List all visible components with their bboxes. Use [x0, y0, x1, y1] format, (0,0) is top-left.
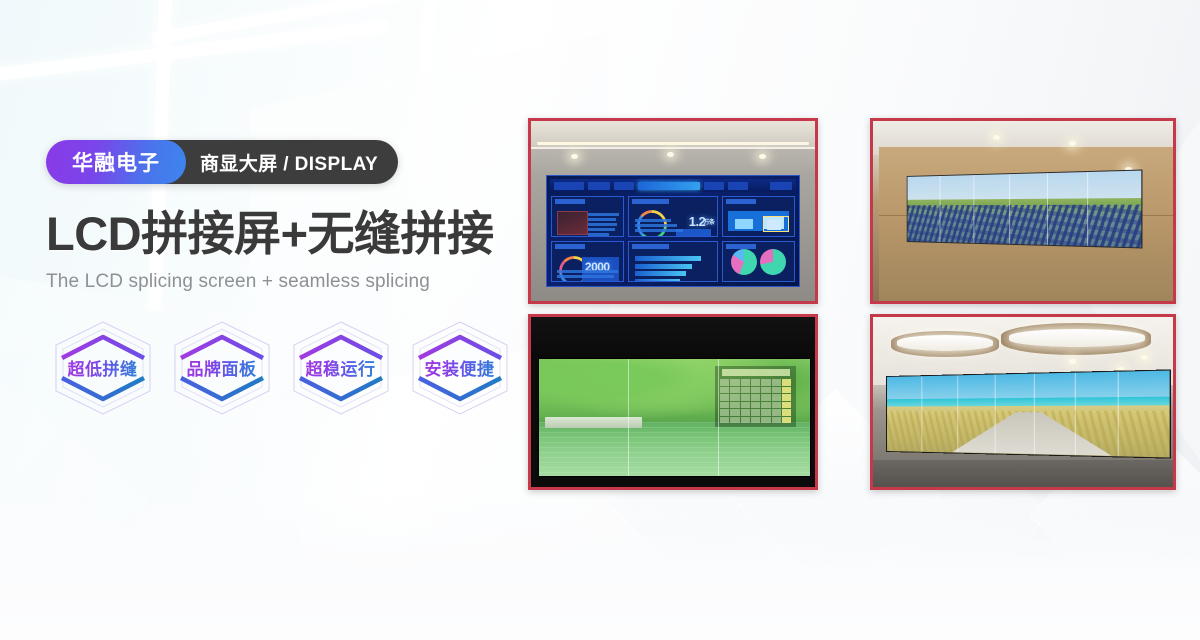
gallery-photo-willow-lake-video-wall[interactable]	[528, 314, 818, 490]
category-label: 商显大屏 / DISPLAY	[200, 149, 378, 176]
brand-badge: 华融电子 商显大屏 / DISPLAY	[46, 140, 398, 184]
floor	[873, 460, 1173, 487]
dashboard-screen: 1.2 万条	[546, 175, 800, 287]
solar-panel-array	[908, 205, 1142, 248]
pie-chart	[731, 249, 757, 275]
ceiling-cove	[531, 121, 815, 149]
ceiling-spotlight	[1141, 355, 1148, 360]
dashboard-panel	[628, 241, 719, 282]
ceiling-spotlight	[1069, 141, 1076, 146]
calendar-overlay	[715, 366, 796, 427]
stone-balustrade	[545, 417, 642, 428]
feature-badge-list: 超低拼缝 品牌面板 超稳运行	[46, 315, 516, 421]
feature-label: 品牌面板	[187, 355, 257, 380]
gallery-photo-beach-boardwalk-video-wall[interactable]	[870, 314, 1176, 490]
ceiling-spotlight	[571, 154, 578, 159]
ceiling-spotlight	[1069, 359, 1076, 364]
brand-pill: 华融电子	[46, 140, 186, 184]
feature-label: 超低拼缝	[68, 355, 138, 380]
dashboard-panel	[722, 241, 795, 282]
dashboard-panel: 1.2 万条	[628, 196, 719, 237]
dashboard-panel	[722, 196, 795, 237]
video-wall-screen	[886, 370, 1171, 459]
gallery-photo-solar-farm-video-wall[interactable]	[870, 118, 1176, 304]
feature-badge-2: 超稳运行	[284, 315, 397, 421]
ceiling-spotlight	[993, 135, 1000, 140]
video-wall-screen	[538, 358, 811, 477]
pie-chart	[760, 249, 786, 275]
product-gallery: 1.2 万条	[528, 118, 1176, 490]
ceiling-spotlight	[667, 152, 674, 157]
ceiling-light	[897, 335, 993, 351]
dashboard-panel	[551, 196, 624, 237]
background-bottom-fade	[0, 490, 1200, 640]
dashboard-topbar	[550, 179, 796, 192]
calendar-grid	[720, 379, 791, 423]
hero-copy: 华融电子 商显大屏 / DISPLAY LCD拼接屏+无缝拼接 The LCD …	[46, 140, 516, 421]
feature-label: 超稳运行	[306, 355, 376, 380]
feature-label: 安装便捷	[425, 355, 495, 380]
ceiling-light	[1009, 329, 1145, 347]
dashboard-panel: 2000	[551, 241, 624, 282]
feature-badge-0: 超低拼缝	[46, 315, 159, 421]
page-subtitle: The LCD splicing screen + seamless splic…	[46, 271, 516, 293]
dashboard-panel-grid: 1.2 万条	[551, 196, 795, 282]
gallery-photo-dashboard-video-wall[interactable]: 1.2 万条	[528, 118, 818, 304]
feature-badge-3: 安装便捷	[403, 315, 516, 421]
brand-name: 华融电子	[72, 147, 160, 177]
calendar-header	[722, 369, 790, 376]
ceiling-spotlight	[759, 154, 766, 159]
feature-badge-1: 品牌面板	[165, 315, 278, 421]
upper-dark-panel-row	[531, 317, 815, 358]
page-title: LCD拼接屏+无缝拼接	[46, 210, 516, 259]
video-wall-screen	[907, 170, 1143, 249]
bar-chart	[635, 256, 713, 282]
lake-water	[539, 422, 810, 476]
